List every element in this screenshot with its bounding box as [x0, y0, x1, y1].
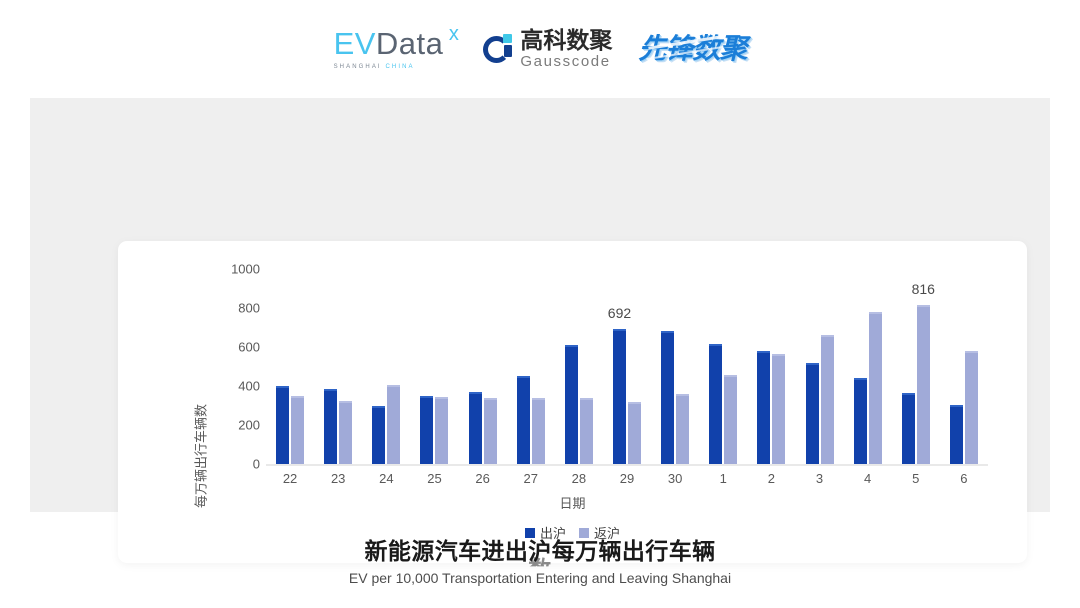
- bar-return-shanghai[interactable]: [532, 398, 545, 464]
- caption-chinese: 新能源汽车进出沪每万辆出行车辆: [0, 532, 1080, 566]
- y-axis-tick-label: 600: [238, 340, 260, 355]
- bar-out-shanghai[interactable]: [517, 376, 530, 464]
- bar-top-highlight: [821, 335, 834, 337]
- chart-outer-panel: 每万辆出行车辆数 02004006008001000 692816 222324…: [30, 98, 1050, 512]
- x-axis-baseline: [266, 464, 988, 466]
- bar-top-highlight: [628, 402, 641, 404]
- bar-top-highlight: [517, 376, 530, 378]
- x-axis-tick-label: 6: [960, 471, 967, 486]
- bar-top-highlight: [724, 375, 737, 377]
- x-axis-title: 日期: [118, 493, 1027, 512]
- bar-group: [266, 269, 314, 464]
- bar-chart: 每万辆出行车辆数 02004006008001000 692816 222324…: [118, 241, 1027, 563]
- bar-out-shanghai[interactable]: [661, 331, 674, 464]
- y-axis-ticks: 02004006008001000: [214, 269, 260, 464]
- evdata-wordmark: EVData x: [334, 28, 444, 59]
- bar-top-highlight: [339, 401, 352, 403]
- bar-top-highlight: [917, 305, 930, 307]
- gausscode-mark-icon: [483, 34, 513, 64]
- x-axis-tick-label: 26: [475, 471, 489, 486]
- evdata-tagline: SHANGHAI CHINA: [334, 64, 415, 70]
- bar-group: [651, 269, 699, 464]
- bar-top-highlight: [772, 354, 785, 356]
- bar-return-shanghai[interactable]: [387, 385, 400, 464]
- bar-return-shanghai[interactable]: [869, 312, 882, 464]
- bar-group: [314, 269, 362, 464]
- bar-top-highlight: [854, 378, 867, 380]
- bar-top-highlight: [950, 405, 963, 407]
- bar-top-highlight: [902, 393, 915, 395]
- evdata-cross-icon: x: [449, 24, 460, 44]
- bar-top-highlight: [580, 398, 593, 400]
- bar-out-shanghai[interactable]: [902, 393, 915, 464]
- bar-group: [410, 269, 458, 464]
- bar-return-shanghai[interactable]: [580, 398, 593, 464]
- bar-out-shanghai[interactable]: [806, 363, 819, 464]
- plot-area: 692816: [266, 269, 988, 464]
- y-axis-tick-label: 0: [253, 457, 260, 472]
- bar-group: [940, 269, 988, 464]
- x-axis-tick-label: 2: [768, 471, 775, 486]
- bar-top-highlight: [613, 329, 626, 331]
- bar-top-highlight: [387, 385, 400, 387]
- bar-return-shanghai[interactable]: [339, 401, 352, 464]
- bar-return-shanghai[interactable]: [628, 402, 641, 464]
- bar-group: 816: [892, 269, 940, 464]
- x-axis-tick-label: 30: [668, 471, 682, 486]
- evdata-ev-text: EV: [334, 26, 376, 61]
- x-axis-tick-label: 28: [572, 471, 586, 486]
- gausscode-en-text: Gausscode: [520, 54, 612, 69]
- bar-top-highlight: [276, 386, 289, 388]
- bar-out-shanghai[interactable]: [950, 405, 963, 464]
- bar-top-highlight: [532, 398, 545, 400]
- bar-out-shanghai[interactable]: [565, 345, 578, 464]
- bar-out-shanghai[interactable]: [324, 389, 337, 464]
- bar-out-shanghai[interactable]: [757, 351, 770, 464]
- x-axis-tick-label: 25: [427, 471, 441, 486]
- bar-top-highlight: [420, 396, 433, 398]
- bar-return-shanghai[interactable]: [435, 397, 448, 464]
- bar-top-highlight: [661, 331, 674, 333]
- bar-return-shanghai[interactable]: [772, 354, 785, 464]
- chart-card: 每万辆出行车辆数 02004006008001000 692816 222324…: [118, 241, 1027, 563]
- y-axis-tick-label: 800: [238, 301, 260, 316]
- xianfeng-shuju-logo: 先锋数聚: [638, 35, 746, 63]
- bar-group: [747, 269, 795, 464]
- bar-group: [362, 269, 410, 464]
- bar-out-shanghai[interactable]: [420, 396, 433, 464]
- bar-top-highlight: [709, 344, 722, 346]
- bar-group: [699, 269, 747, 464]
- bar-return-shanghai[interactable]: [821, 335, 834, 464]
- bar-group: [459, 269, 507, 464]
- x-axis-tick-label: 22: [283, 471, 297, 486]
- x-axis-tick-label: 5: [912, 471, 919, 486]
- y-axis-tick-label: 1000: [231, 262, 260, 277]
- bar-top-highlight: [965, 351, 978, 353]
- bar-group: [555, 269, 603, 464]
- bar-top-highlight: [565, 345, 578, 347]
- x-axis-ticks: 222324252627282930123456: [266, 471, 988, 493]
- bar-out-shanghai[interactable]: [709, 344, 722, 464]
- x-axis-tick-label: 1: [720, 471, 727, 486]
- x-axis-tick-label: 4: [864, 471, 871, 486]
- gausscode-logo: 高科数聚 Gausscode: [483, 29, 612, 69]
- bar-value-label: 816: [912, 281, 935, 297]
- bar-return-shanghai[interactable]: 816: [917, 305, 930, 464]
- bar-top-highlight: [291, 396, 304, 398]
- evdata-tagline-city: SHANGHAI: [334, 64, 386, 70]
- bar-top-highlight: [676, 394, 689, 396]
- bar-value-label: 692: [608, 305, 631, 321]
- bar-top-highlight: [324, 389, 337, 391]
- bar-group: [844, 269, 892, 464]
- bar-top-highlight: [372, 406, 385, 408]
- bar-top-highlight: [806, 363, 819, 365]
- bar-out-shanghai[interactable]: [372, 406, 385, 464]
- gausscode-cn-text: 高科数聚: [520, 29, 612, 52]
- y-axis-tick-label: 200: [238, 418, 260, 433]
- evdata-logo: EVData x SHANGHAI CHINA: [334, 28, 458, 70]
- bar-group: [795, 269, 843, 464]
- bar-return-shanghai[interactable]: [724, 375, 737, 464]
- bar-top-highlight: [757, 351, 770, 353]
- x-axis-tick-label: 29: [620, 471, 634, 486]
- bar-out-shanghai[interactable]: 692: [613, 329, 626, 464]
- evdata-data-text: Data: [376, 26, 443, 61]
- bar-top-highlight: [435, 397, 448, 399]
- bar-return-shanghai[interactable]: [291, 396, 304, 464]
- x-axis-tick-label: 27: [523, 471, 537, 486]
- bar-group: 692: [603, 269, 651, 464]
- bar-return-shanghai[interactable]: [965, 351, 978, 464]
- bar-out-shanghai[interactable]: [469, 392, 482, 464]
- bar-group: [507, 269, 555, 464]
- bar-return-shanghai[interactable]: [484, 398, 497, 464]
- slide-root: EVData x SHANGHAI CHINA 高科数聚 Gausscode 先…: [0, 0, 1080, 608]
- evdata-tagline-country: CHINA: [385, 64, 414, 70]
- bar-top-highlight: [869, 312, 882, 314]
- bar-out-shanghai[interactable]: [276, 386, 289, 464]
- x-axis-tick-label: 23: [331, 471, 345, 486]
- bar-return-shanghai[interactable]: [676, 394, 689, 464]
- y-axis-tick-label: 400: [238, 379, 260, 394]
- caption-english: EV per 10,000 Transportation Entering an…: [0, 570, 1080, 586]
- x-axis-tick-label: 3: [816, 471, 823, 486]
- bar-top-highlight: [484, 398, 497, 400]
- x-axis-tick-label: 24: [379, 471, 393, 486]
- bar-out-shanghai[interactable]: [854, 378, 867, 464]
- logo-bar: EVData x SHANGHAI CHINA 高科数聚 Gausscode 先…: [0, 18, 1080, 80]
- bar-top-highlight: [469, 392, 482, 394]
